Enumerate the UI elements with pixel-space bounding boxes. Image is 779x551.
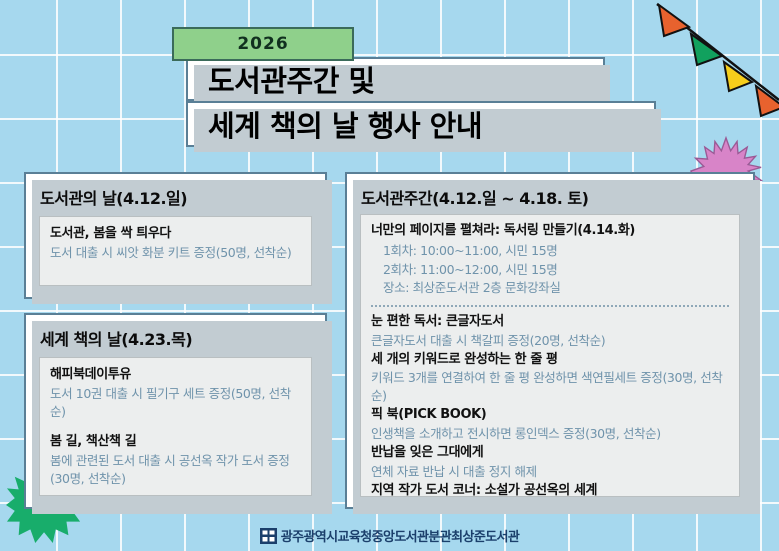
event-description: 연체 자료 반납 시 대출 정지 해제 [371, 463, 729, 481]
year-badge: 2026 [172, 27, 354, 61]
page-title-line-2: 세계 책의 날 행사 안내 [188, 103, 482, 145]
event-title: 픽 북(PICK BOOK) [371, 405, 729, 425]
event-description: 도서 대출 시 씨앗 화분 키트 증정(50명, 선착순) [50, 244, 301, 262]
section-divider [371, 305, 729, 307]
event-item: 세 개의 키워드로 완성하는 한 줄 평 키워드 3개를 연결하여 한 줄 평 … [371, 350, 729, 406]
card-world-book-day-body: 해피북데이투유 도서 10권 대출 시 필기구 세트 증정(50명, 선착순) … [39, 357, 312, 496]
event-title: 눈 편한 독서: 큰글자도서 [371, 312, 729, 332]
featured-event-sessions: 1회차: 10:00~11:00, 시민 15명 2회차: 11:00~12:0… [371, 242, 729, 298]
event-item: 지역 작가 도서 코너: 소설가 공선옥의 세계 [371, 481, 729, 497]
event-title: 해피북데이투유 [50, 366, 301, 385]
event-title: 세 개의 키워드로 완성하는 한 줄 평 [371, 350, 729, 370]
title-panel-line-1: 도서관주간 및 [186, 57, 605, 101]
event-title: 봄 길, 책산책 길 [50, 433, 301, 452]
event-item: 반납을 잊은 그대에게 연체 자료 반납 시 대출 정지 해제 [371, 443, 729, 481]
featured-event-title: 너만의 페이지를 펼쳐라: 독서링 만들기(4.14.화) [371, 222, 729, 241]
event-list: 눈 편한 독서: 큰글자도서 큰글자도서 대출 시 책갈피 증정(20명, 선착… [371, 312, 729, 497]
session-line: 2회차: 11:00~12:00, 시민 15명 [371, 261, 729, 280]
event-item: 픽 북(PICK BOOK) 인생책을 소개하고 전시하면 롱인덱스 증정(30… [371, 405, 729, 443]
card-title-library-week: 도서관주간(4.12.일 ~ 4.18. 토) [347, 174, 753, 217]
card-library-day-body: 도서관, 봄을 싹 틔우다 도서 대출 시 씨앗 화분 키트 증정(50명, 선… [39, 216, 312, 286]
event-description: 도서 10권 대출 시 필기구 세트 증정(50명, 선착순) [50, 385, 301, 421]
featured-event: 너만의 페이지를 펼쳐라: 독서링 만들기(4.14.화) 1회차: 10:00… [371, 222, 729, 298]
card-library-day: 도서관의 날(4.12.일) 도서관, 봄을 싹 틔우다 도서 대출 시 씨앗 … [24, 172, 327, 299]
card-title-world-book-day: 세계 책의 날(4.23.목) [26, 315, 325, 358]
footer-organization-label: 광주광역시교육청중앙도서관분관최상준도서관 [281, 526, 520, 545]
title-panel-line-2: 세계 책의 날 행사 안내 [186, 101, 656, 147]
event-item: 눈 편한 독서: 큰글자도서 큰글자도서 대출 시 책갈피 증정(20명, 선착… [371, 312, 729, 350]
event-description: 큰글자도서 대출 시 책갈피 증정(20명, 선착순) [371, 332, 729, 350]
event-title: 지역 작가 도서 코너: 소설가 공선옥의 세계 [371, 481, 729, 497]
event-description: 키워드 3개를 연결하여 한 줄 평 완성하면 색연필세트 증정(30명, 선착… [371, 369, 729, 405]
session-line: 장소: 최상준도서관 2층 문화강좌실 [371, 279, 729, 298]
event-item: 도서관, 봄을 싹 틔우다 도서 대출 시 씨앗 화분 키트 증정(50명, 선… [50, 225, 301, 262]
event-description: 인생책을 소개하고 전시하면 롱인덱스 증정(30명, 선착순) [371, 425, 729, 443]
session-line: 1회차: 10:00~11:00, 시민 15명 [371, 242, 729, 261]
event-item: 봄 길, 책산책 길 봄에 관련된 도서 대출 시 공선옥 작가 도서 증정(3… [50, 433, 301, 487]
event-title: 반납을 잊은 그대에게 [371, 443, 729, 463]
event-item: 해피북데이투유 도서 10권 대출 시 필기구 세트 증정(50명, 선착순) [50, 366, 301, 420]
card-library-week-body: 너만의 페이지를 펼쳐라: 독서링 만들기(4.14.화) 1회차: 10:00… [360, 214, 740, 497]
year-badge-label: 2026 [237, 34, 288, 54]
card-world-book-day: 세계 책의 날(4.23.목) 해피북데이투유 도서 10권 대출 시 필기구 … [24, 313, 327, 509]
poster-canvas: 2026 도서관주간 및 세계 책의 날 행사 안내 도서관의 날(4.12.일… [0, 0, 779, 551]
card-title-library-day: 도서관의 날(4.12.일) [26, 174, 325, 217]
footer: 광주광역시교육청중앙도서관분관최상준도서관 [0, 526, 779, 545]
library-emblem-icon [260, 528, 277, 544]
event-description: 봄에 관련된 도서 대출 시 공선옥 작가 도서 증정(30명, 선착순) [50, 452, 301, 488]
page-title-line-1: 도서관주간 및 [188, 58, 375, 100]
event-title: 도서관, 봄을 싹 틔우다 [50, 225, 301, 244]
card-library-week: 도서관주간(4.12.일 ~ 4.18. 토) 너만의 페이지를 펼쳐라: 독서… [345, 172, 755, 509]
